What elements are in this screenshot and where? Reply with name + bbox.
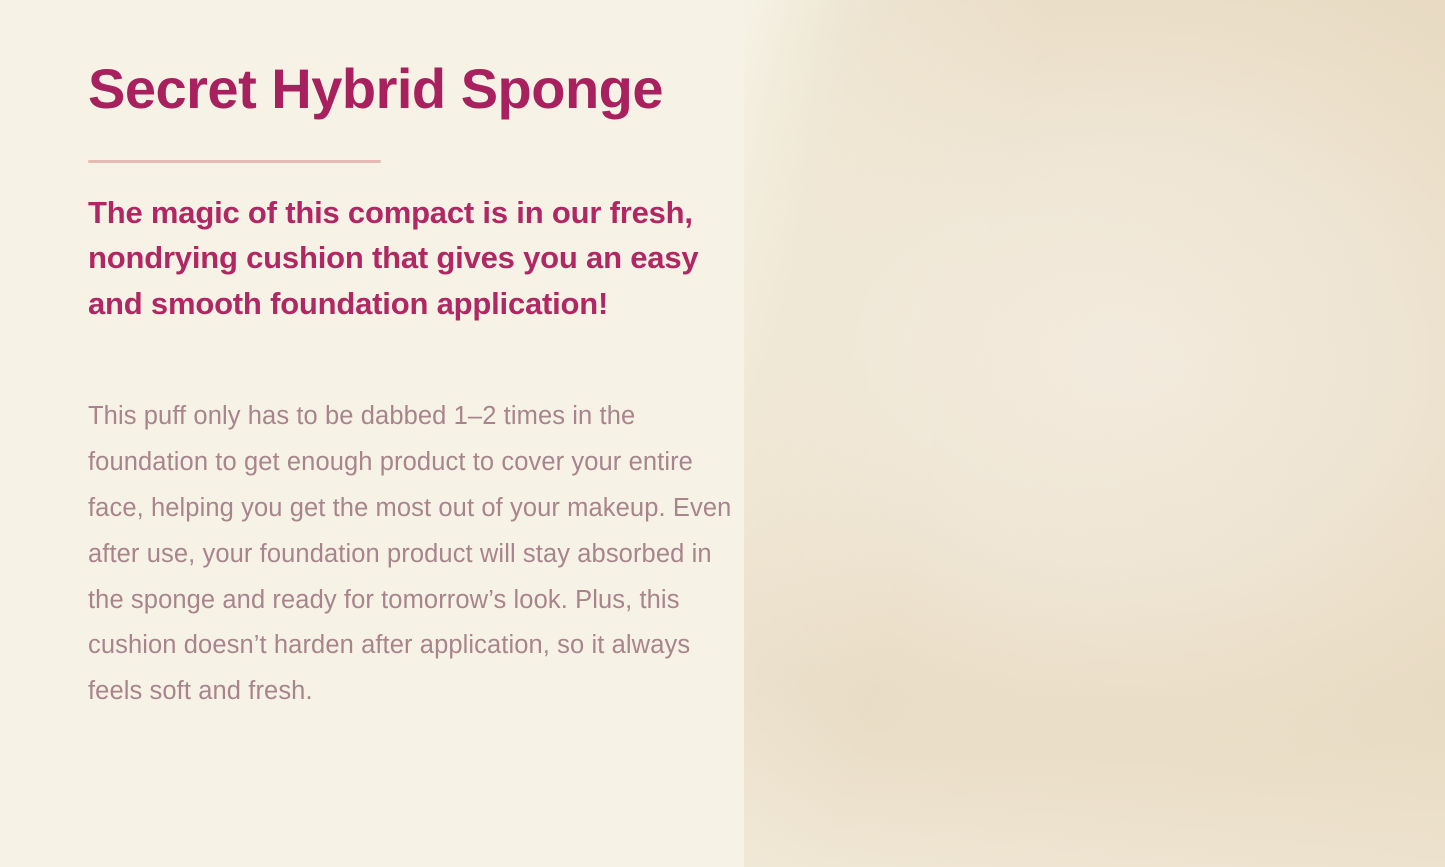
table-surface: [744, 687, 1445, 867]
product-photo: [744, 0, 1445, 867]
title-divider: [88, 160, 381, 163]
page-title: Secret Hybrid Sponge: [88, 60, 663, 119]
product-feature-banner: Secret Hybrid Sponge The magic of this c…: [0, 0, 1445, 867]
subheading: The magic of this compact is in our fres…: [88, 190, 728, 326]
copy-panel: Secret Hybrid Sponge The magic of this c…: [0, 0, 760, 867]
body-paragraph: This puff only has to be dabbed 1–2 time…: [88, 394, 748, 715]
